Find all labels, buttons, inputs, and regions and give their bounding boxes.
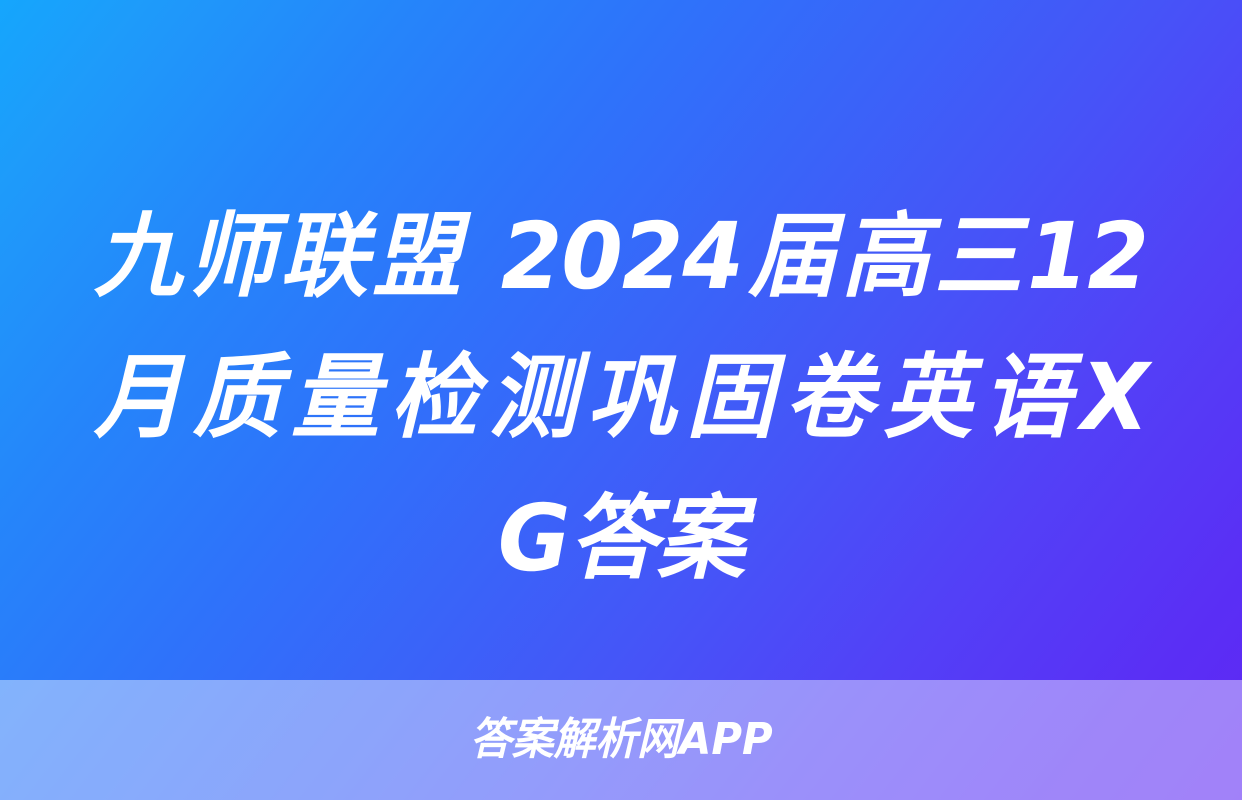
headline-line-2: 月质量检测巩固卷英语X <box>94 327 1148 468</box>
headline-line-3: G答案 <box>94 468 1148 609</box>
poster-canvas: 九师联盟 2024届高三12 月质量检测巩固卷英语X G答案 答案解析网APP <box>0 0 1242 800</box>
headline-line-1: 九师联盟 2024届高三12 <box>94 186 1148 327</box>
footer-brand-label: 答案解析网APP <box>470 718 773 762</box>
poster-headline: 九师联盟 2024届高三12 月质量检测巩固卷英语X G答案 <box>25 186 1217 609</box>
footer-band: 答案解析网APP <box>0 680 1242 800</box>
